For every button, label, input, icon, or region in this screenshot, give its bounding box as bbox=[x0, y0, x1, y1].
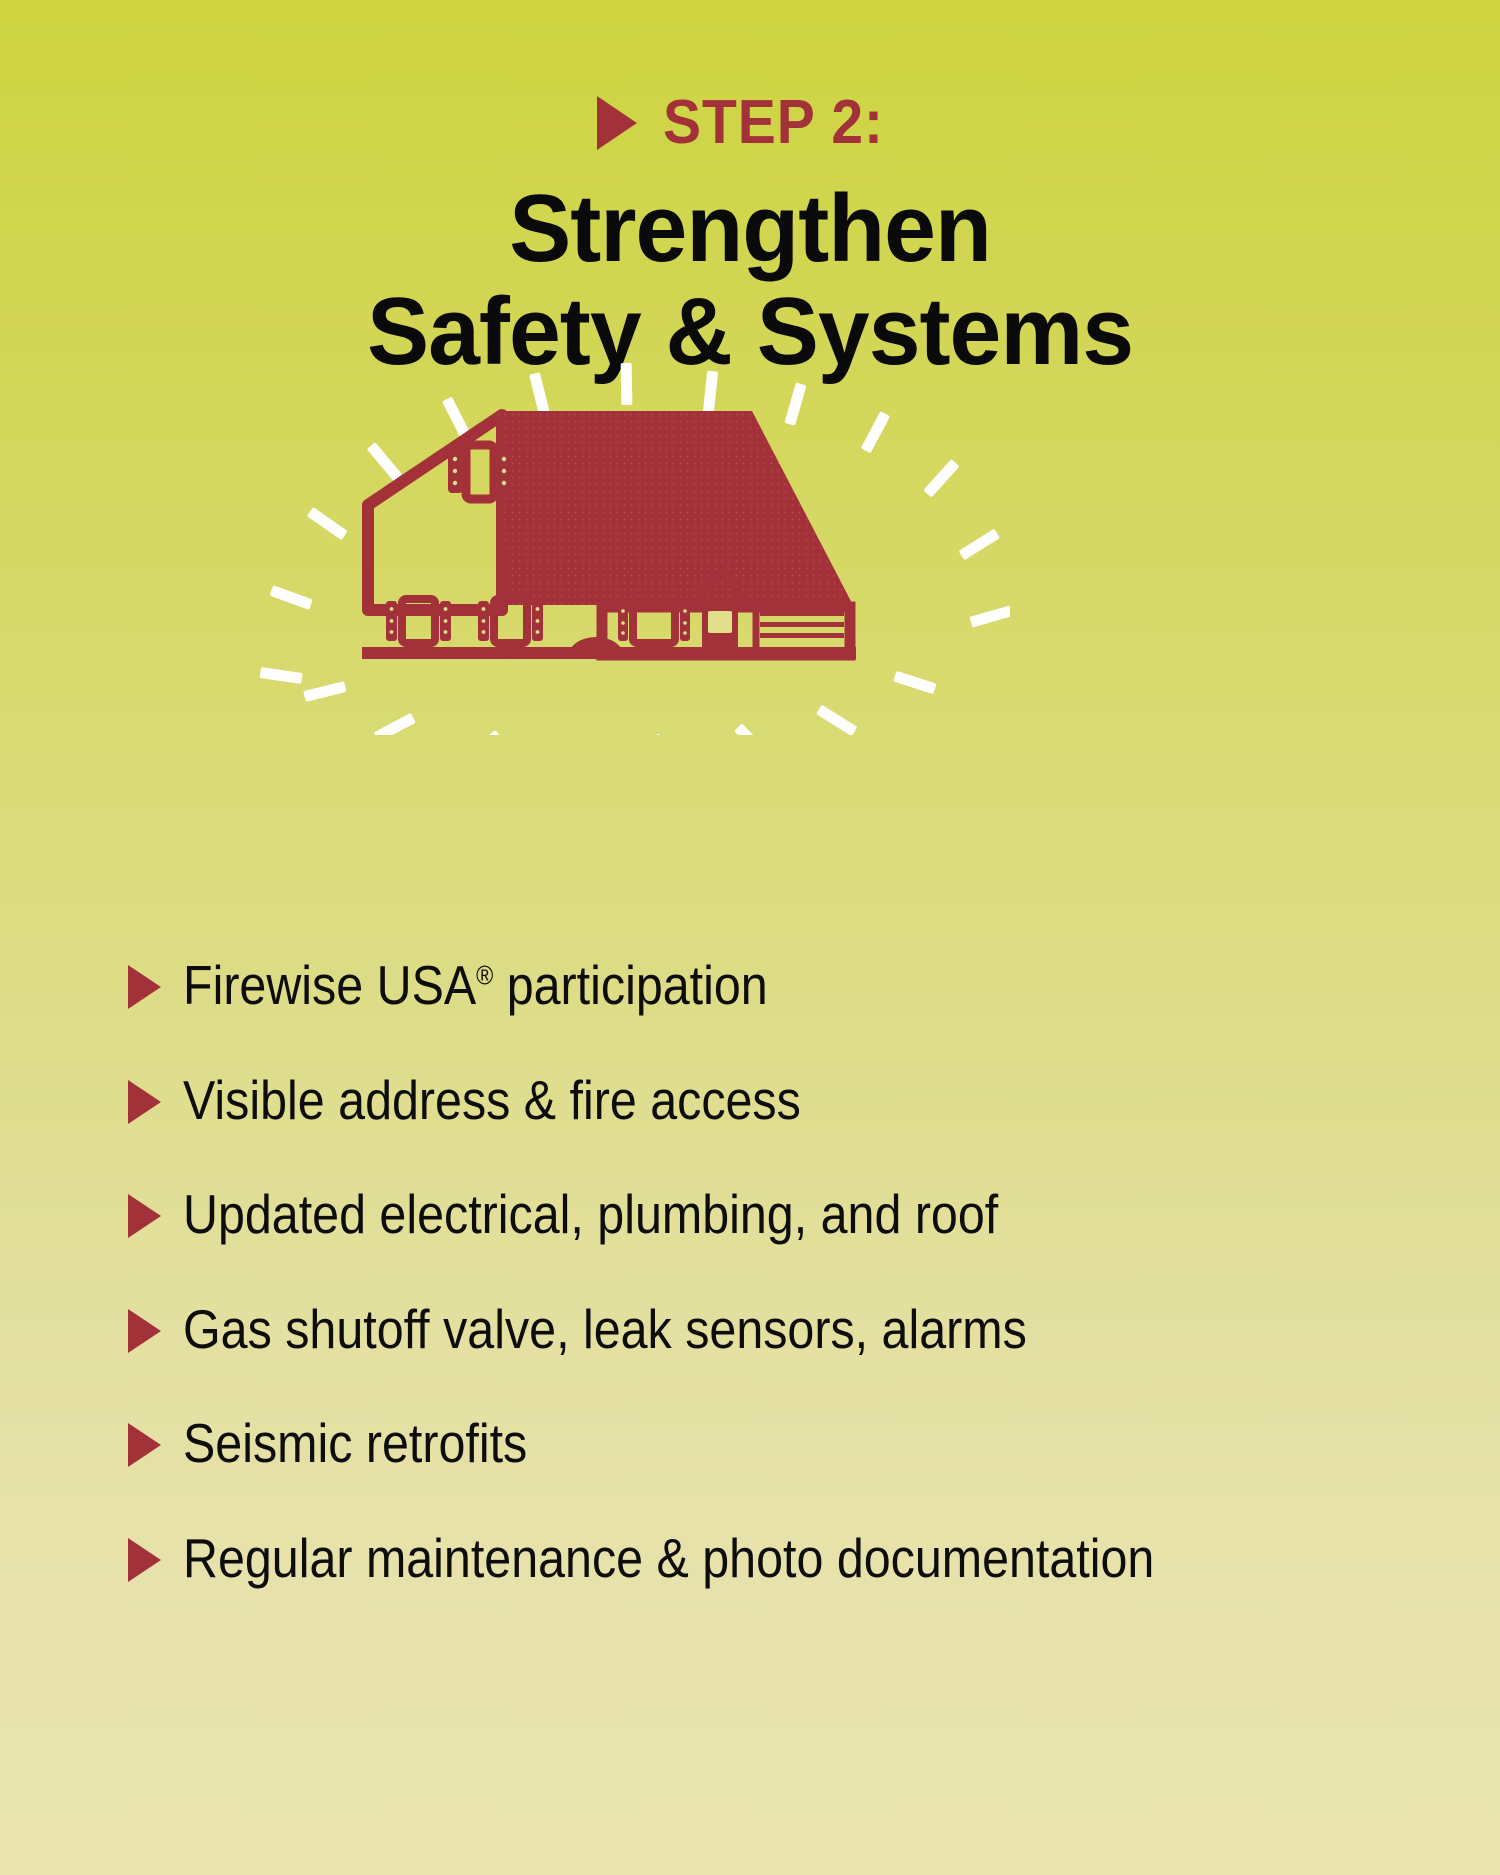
page-title: Strengthen Safety & Systems bbox=[0, 178, 1500, 383]
list-item-label: Visible address & fire access bbox=[183, 1070, 801, 1132]
checklist: Firewise USA® participation Visible addr… bbox=[128, 955, 1428, 1590]
step-label: STEP 2: bbox=[663, 92, 884, 154]
attic-window bbox=[448, 445, 512, 499]
house-with-sunburst-illustration bbox=[250, 355, 1010, 735]
infographic-poster: STEP 2: Strengthen Safety & Systems bbox=[0, 0, 1500, 1875]
list-item[interactable]: Seismic retrofits bbox=[128, 1413, 1428, 1475]
triangle-right-icon bbox=[128, 1194, 161, 1238]
list-item-label: Updated electrical, plumbing, and roof bbox=[183, 1184, 998, 1246]
list-item[interactable]: Updated electrical, plumbing, and roof bbox=[128, 1184, 1428, 1246]
list-item[interactable]: Visible address & fire access bbox=[128, 1070, 1428, 1132]
house-icon bbox=[362, 411, 856, 659]
title-line-1: Strengthen bbox=[23, 178, 1478, 281]
list-item[interactable]: Gas shutoff valve, leak sensors, alarms bbox=[128, 1299, 1428, 1361]
list-item-label: Firewise USA® participation bbox=[183, 955, 768, 1017]
list-item-label: Seismic retrofits bbox=[183, 1413, 527, 1475]
triangle-right-icon bbox=[128, 1080, 161, 1124]
list-item[interactable]: Firewise USA® participation bbox=[128, 955, 1428, 1017]
step-eyebrow: STEP 2: bbox=[0, 92, 1500, 154]
triangle-right-icon bbox=[128, 965, 161, 1009]
triangle-right-icon bbox=[597, 96, 637, 150]
facade-window-mid bbox=[478, 599, 543, 643]
list-item-label: Gas shutoff valve, leak sensors, alarms bbox=[183, 1299, 1027, 1361]
registered-trademark-icon: ® bbox=[476, 961, 493, 991]
list-item-label: Regular maintenance & photo documentatio… bbox=[183, 1528, 1154, 1590]
triangle-right-icon bbox=[128, 1538, 161, 1582]
triangle-right-icon bbox=[128, 1309, 161, 1353]
triangle-right-icon bbox=[128, 1423, 161, 1467]
list-item[interactable]: Regular maintenance & photo documentatio… bbox=[128, 1528, 1428, 1590]
